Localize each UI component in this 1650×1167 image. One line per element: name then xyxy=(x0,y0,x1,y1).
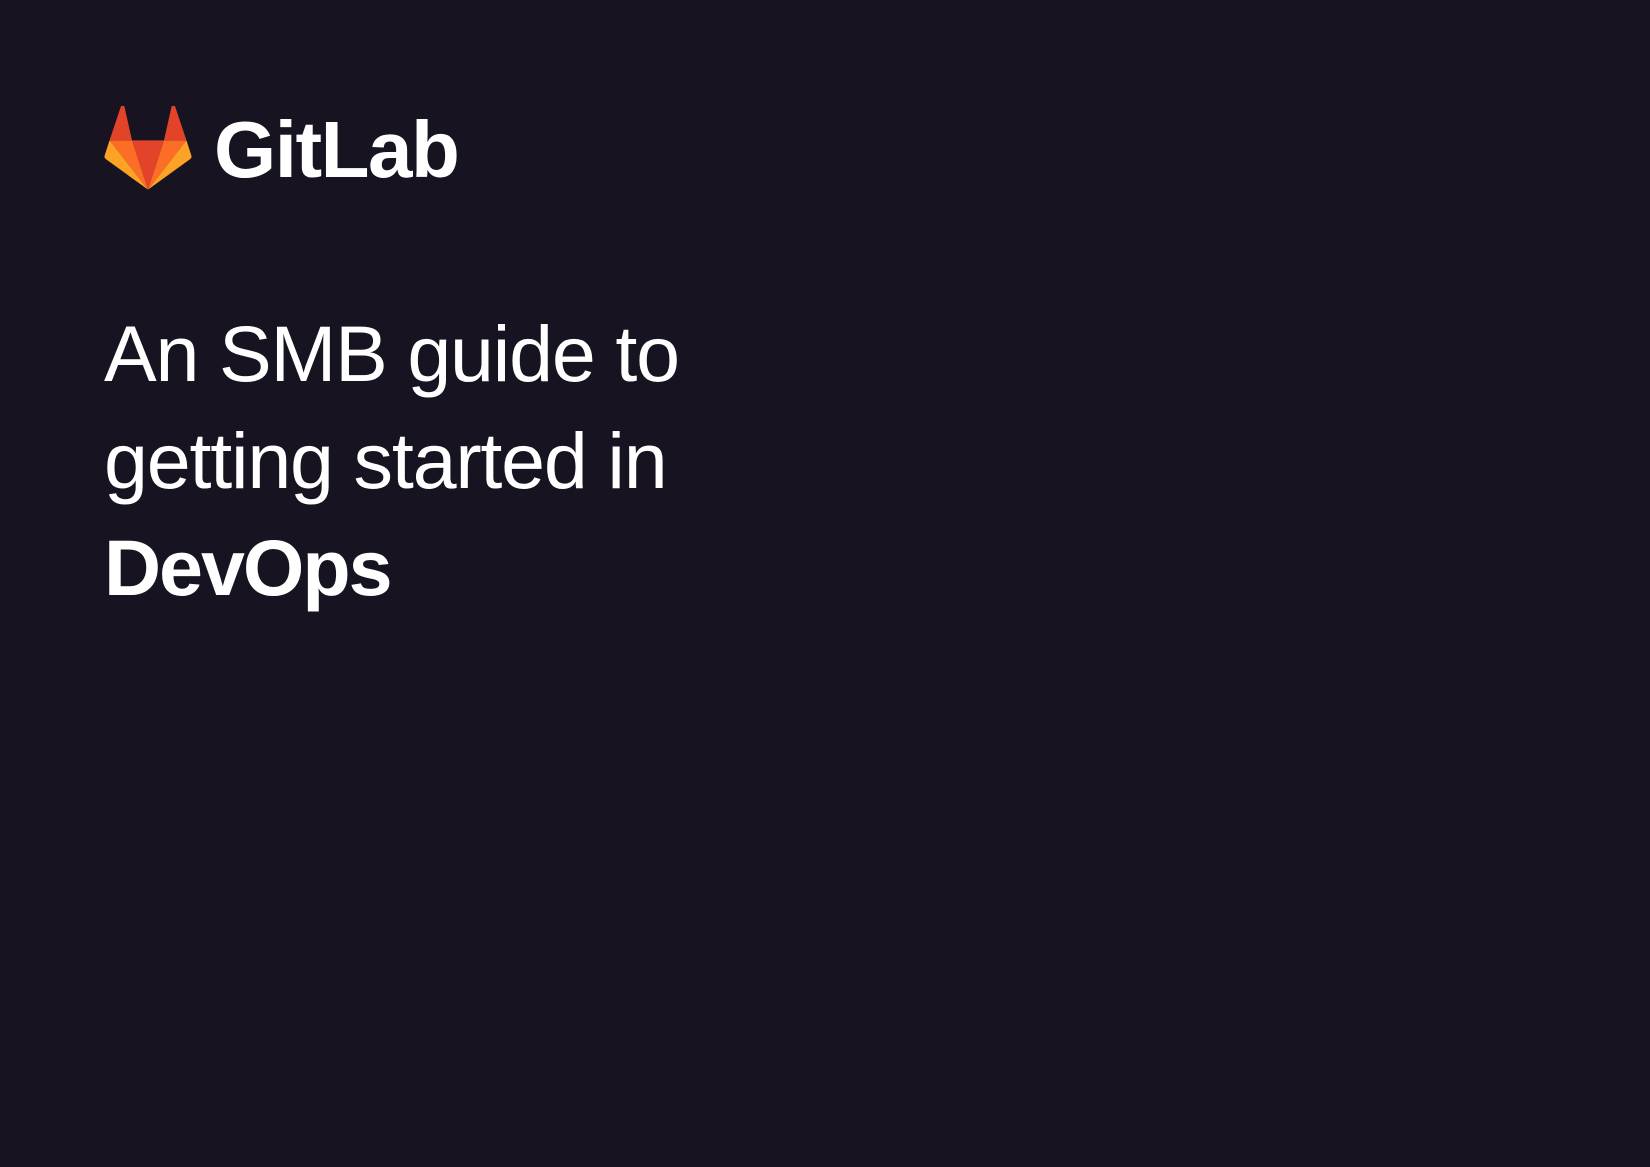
headline-line-1: An SMB guide to xyxy=(104,300,1004,407)
gitlab-tanuki-icon xyxy=(104,106,192,190)
gitlab-wordmark: GitLab xyxy=(214,110,458,190)
slide-canvas: GitLab An SMB guide to getting started i… xyxy=(0,0,1650,1167)
slide-headline: An SMB guide to getting started in DevOp… xyxy=(104,300,1004,621)
headline-line-2: getting started in xyxy=(104,407,1004,514)
gitlab-brand-lockup: GitLab xyxy=(104,100,458,196)
headline-line-3: DevOps xyxy=(104,514,1004,621)
